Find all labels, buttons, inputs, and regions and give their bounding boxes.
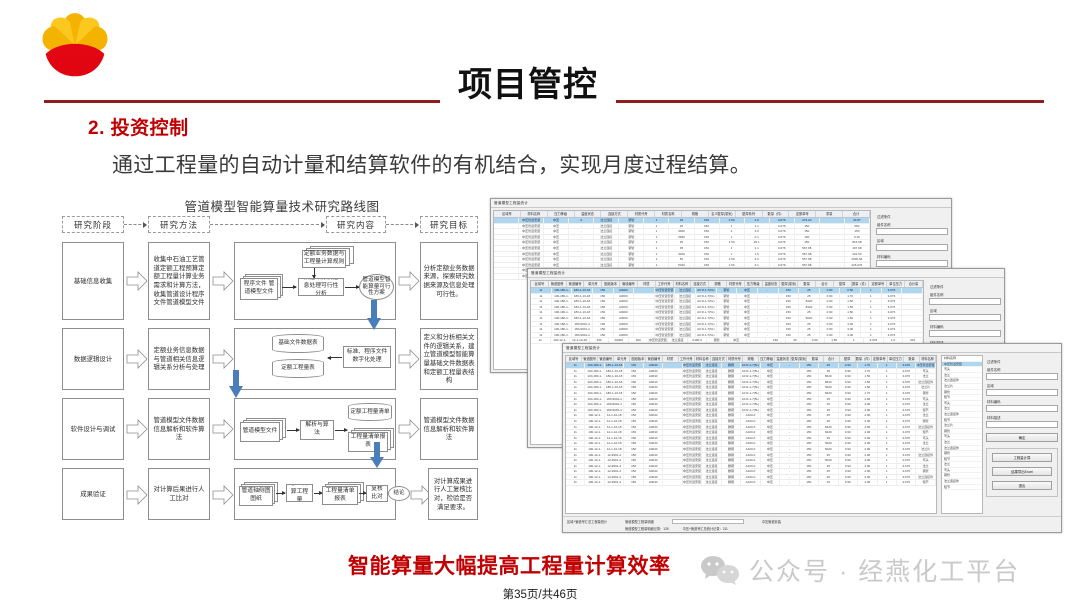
table-cell: 2900.56 [845,257,870,262]
table-cell [494,224,519,229]
grid-column-header[interactable]: 管道图号 [582,356,598,362]
table-cell: 11 [566,391,585,396]
table-cell: 中压 [761,425,780,430]
table-cell: 0.90 [839,441,858,446]
flow-arrow-3b [212,418,234,440]
table-cell: - [780,425,799,430]
grid-column-header[interactable]: 材质名称 [655,211,682,217]
grid-column-header[interactable]: 区域号 [531,281,549,287]
table-cell: 150 [800,391,819,396]
table-cell: 150 [779,288,800,293]
table-cell: 0.90 [839,413,858,418]
flow-arrow-1b [212,270,234,292]
flow-sarrow-3b [335,430,347,431]
table-cell: 180-1-10-18 [572,299,593,304]
table-cell: 150 [593,310,614,315]
table-cell: A0040 [644,380,663,385]
grid-column-header[interactable]: 温度状态 [775,356,791,362]
table-cell: 0.90 [820,322,841,327]
table-cell: A0 R-1-7(5L) [741,391,760,396]
grid-column-header[interactable]: 图纸版本 [602,281,620,287]
statusbar-input[interactable] [672,519,744,524]
grid-column-header[interactable]: 管线编号 [620,281,638,287]
flow-stage-3: 软件设计与调试 [62,398,124,460]
table-cell: 25 [819,363,838,368]
table-cell: 法兰 [916,402,935,407]
table-cell: 1 [878,430,897,435]
table-cell: - [780,380,799,385]
statusbar-tab-2[interactable]: 管道模型工程量明细 [625,519,654,524]
table-cell: A0040 [644,419,663,424]
table-cell: 11 [566,385,585,390]
grid-column-header[interactable]: 温度状态 [575,211,602,217]
table-cell: - [780,453,799,458]
window-front-field-label-2: 材料编码 [987,399,1058,404]
table-cell: 1 [878,458,897,463]
table-cell: A0040 [644,430,663,435]
table-cell: 碳钢 [722,430,741,435]
grid-column-header[interactable]: 单元号 [614,356,630,362]
grid-column-header[interactable]: 规格 [709,281,727,287]
table-cell: A0040 [644,397,663,402]
table-cell: 150 [795,224,820,229]
table-cell: 4.00 [858,447,877,452]
table-cell: 3-676 [897,447,916,452]
table-cell: 12-9901-4 [605,453,624,458]
grid-column-header[interactable]: 数量（件） [856,356,872,362]
table-cell: 碳钢 [722,408,741,413]
table-cell: 150 [624,419,643,424]
table-cell: A100-0 [741,480,760,485]
table-cell: A0040 [644,480,663,485]
window-middle-field-label-0: 组件名称 [930,292,1001,297]
table-cell: 25 [819,480,838,485]
table-cell: 碳钢 [722,441,741,446]
table-cell: 钢管 [717,333,738,338]
table-cell: 弯头 [916,397,935,402]
table-cell: 3-676 [882,299,903,304]
table-cell: 中压 [737,333,758,338]
table-cell [634,333,655,338]
table-cell: A0040 [644,391,663,396]
table-cell: 钢管 [619,252,644,257]
statusbar-tab-1[interactable]: 区域+管道号汇总工程量统计 [567,519,607,524]
table-cell: 钢管 [619,240,644,245]
table-cell: A100-0 [741,430,760,435]
table-cell: 钢管 [619,257,644,262]
table-cell: 180-1-10-18 [572,316,593,321]
table-cell: A100-0 [741,436,760,441]
grid-column-header[interactable]: 材料名称 [521,211,548,217]
table-cell: 中压 [544,252,569,257]
table-cell: 150 [800,385,819,390]
table-cell: 法兰连接 [675,305,696,310]
table-cell: 150 [800,397,819,402]
grid-column-header[interactable]: 管线编号 [646,356,662,362]
table-cell: 0.90 [820,288,841,293]
table-cell: 4.00 [858,413,877,418]
flow-stage-1: 基础信息收集 [62,242,124,320]
flow-manual-calc-4: 手工计算工程量 [286,484,313,502]
window-front-grid[interactable]: 区域号管道图号管道编号单元号图纸版本管线编号材质工作代号材料名称连接方式材质代号… [565,355,937,514]
table-cell: 中压 [544,240,569,245]
grid-column-header[interactable]: 温度状态 [763,281,781,287]
table-cell: 11 [566,441,585,446]
grid-column-header[interactable]: 单位压力 [888,356,904,362]
table-cell: 法兰 [916,441,935,446]
flow-goal-2: 定义和分析相关文件的逻辑关系，建立管道模型智能算量基础文件数据表和定额工程量表结… [420,328,478,390]
table-cell [902,310,923,315]
grid-column-header[interactable]: 压力等级 [548,211,575,217]
table-cell: 碳钢 [722,475,741,480]
grid-column-header[interactable]: 材料名称 [674,281,692,287]
window-back-titlebar[interactable]: 管道模型工程量统计 [491,199,951,208]
table-cell: 180-1-10-18 [572,294,593,299]
table-cell: A100-0 [741,441,760,446]
table-cell: 钢管 [717,299,738,304]
table-cell: A0040 [644,402,663,407]
window-front-field-input-3[interactable] [986,421,1058,428]
window-front-field-label-1: 区域 [987,383,1058,388]
table-cell: 6.0 [745,257,770,262]
table-cell: 中压 [761,408,780,413]
grid-column-header[interactable]: 壁厚(毫米) [791,356,807,362]
table-cell: 3-676 [770,235,795,240]
grid-column-header[interactable]: 压力等级 [745,281,763,287]
table-cell: 100-180-1-2018 [552,299,573,304]
table-cell: 180-9901-4 [572,322,593,327]
table-cell: A0000 [614,322,635,327]
grid-column-header[interactable]: 区域号 [494,211,521,217]
table-cell: 150 [593,316,614,321]
table-cell: 法兰连接 [675,322,696,327]
table-cell: A0 R-1-7(5L) [741,374,760,379]
table-cell: 中压管道安装 [683,374,702,379]
table-cell [494,252,519,257]
table-cell: 25 [819,369,838,374]
table-cell: 150 [624,453,643,458]
table-cell [663,385,682,390]
table-cell: 12-9901-4 [605,469,624,474]
table-cell [663,369,682,374]
table-cell: 11 [566,363,585,368]
grid-column-header[interactable]: 定额单号 [872,356,888,362]
window-front[interactable]: 管道模型工程量统计 区域号管道图号管道编号单元号图纸版本管线编号材质工作代号材料… [562,343,1062,533]
table-cell: A0040 [644,413,663,418]
table-cell: 11 [531,322,552,327]
flow-db-2b-label: 定额工程量表 [272,359,324,378]
grid-column-header[interactable]: 重量 [816,211,843,217]
table-cell: A0040 [644,453,663,458]
table-cell: 1 [878,380,897,385]
table-cell: 1 [878,441,897,446]
window-middle-field-input-2[interactable] [929,330,1001,337]
table-cell: 100-12-1-2018 [585,436,604,441]
table-cell: 25 [819,464,838,469]
table-cell [820,252,845,257]
table-cell: A0 R-1-7(5L) [696,299,717,304]
table-cell: 中压管道安装 [655,322,676,327]
table-cell: 中压管道安装 [683,453,702,458]
table-cell: 25 [819,419,838,424]
table-cell: 150 [800,436,819,441]
flow-varrow-1 [314,268,315,278]
grid-column-header[interactable]: 定额单号 [869,281,887,287]
table-row[interactable]: 11100-12-1-990412-9901-4150A0040中压管道安装法兰… [566,480,936,486]
table-cell: A0040 [644,469,663,474]
table-cell: 150 [779,294,800,299]
grid-column-header[interactable]: 连接方式 [601,211,628,217]
grid-column-header[interactable]: 规格 [682,211,709,217]
window-back-field-input-1[interactable] [876,244,948,251]
table-cell [634,288,655,293]
confirm-button[interactable]: 确定 [986,433,1058,442]
table-cell: A100-0 [741,464,760,469]
table-cell: 法兰连接 [675,316,696,321]
table-cell: 3-676 [770,246,795,251]
table-cell: 短节 [916,480,935,485]
grid-column-header[interactable]: 单元号 [584,281,602,287]
table-cell: 150 [695,257,720,262]
wechat-icon [700,555,740,585]
grid-column-header[interactable]: 材质代号 [727,356,743,362]
flow-method-3: 管道模型文件数据信息解析和软件算法 [148,398,210,460]
software-screenshots: 管道模型工程量统计 区域号材料名称压力等级温度状态连接方式材质代号材质名称规格名… [490,198,1080,538]
grid-column-header[interactable]: 定额单号 [789,211,816,217]
table-cell: 8420 [819,430,838,435]
table-cell [663,402,682,407]
grid-column-header[interactable]: 合计 [843,211,870,217]
table-cell: 中压管道安装 [519,263,544,268]
grid-column-header[interactable]: 数量 [798,281,816,287]
table-cell: 567.98 [795,246,820,251]
grid-column-header[interactable]: 合计 [824,356,840,362]
table-cell: 4.00 [858,397,877,402]
table-cell: 中压管道安装 [683,469,702,474]
table-cell: 11 [531,338,551,343]
window-front-material-list[interactable]: 材料名称中压管道安装弯头法兰法兰连接件法兰片钢管短节弯头法兰法兰连接件短节法兰片… [941,355,983,514]
table-cell: 中压 [544,246,569,251]
grid-column-header[interactable]: 管道图号 [549,281,567,287]
grid-column-header[interactable]: 数量（件） [763,211,790,217]
table-cell: A0 R-1-7(5L) [696,310,717,315]
table-cell: 5020 [819,385,838,390]
table-cell: 钢管 [717,322,738,327]
table-cell [820,240,845,245]
table-cell: 3.1 [745,263,770,268]
flow-conclusion-4: 结论 [388,486,410,501]
table-cell: 1 [878,385,897,390]
watermark: 公众号 · 经燕化工平台 [700,552,1020,588]
table-cell: 中压管道安装 [519,246,544,251]
table-cell: 3-676 [897,469,916,474]
table-cell: 中压 [737,316,758,321]
table-cell: 中压管道安装 [655,288,676,293]
window-front-field-label-3: 材料描述 [987,415,1058,420]
table-cell: A0 R-1-7(5L) [741,397,760,402]
table-cell: 11 [566,408,585,413]
table-cell: 3-676 [770,224,795,229]
table-cell: 150 [800,402,819,407]
grid-column-header[interactable]: 管道编号 [567,281,585,287]
table-cell: 150 [800,469,819,474]
table-cell: 3-676 [770,240,795,245]
flowchart-title: 管道模型智能算量技术研究路线图 [157,196,407,215]
table-cell: 8420 [799,299,820,304]
table-cell: 中压管道安装 [683,447,702,452]
table-cell: 中压管道安装 [655,316,676,321]
window-back-grid-header: 区域号材料名称压力等级温度状态连接方式材质代号材质名称规格名义壁厚(毫米)壁厚系… [494,211,870,218]
grid-column-header[interactable]: 合计 [816,281,834,287]
table-cell: 100-180-1-2018 [585,380,604,385]
table-cell: 碳钢 [722,419,741,424]
table-cell: A0 R-1-7(5L) [741,380,760,385]
table-cell [494,246,519,251]
window-front-titlebar[interactable]: 管道模型工程量统计 [563,344,1061,353]
page-title-text: 项目管控 [458,68,598,102]
grid-column-header[interactable]: 材质 [638,281,656,287]
calc-quantity-button[interactable]: 工程量计算 [992,453,1052,462]
grid-column-header[interactable]: 管道编号 [598,356,614,362]
table-cell: A100-0 [741,453,760,458]
window-middle-field-label-1: 区域 [930,308,1001,313]
table-cell: 11 [566,453,585,458]
table-cell [902,316,923,321]
window-middle-field-input-0[interactable] [929,298,1001,305]
flow-compare-4: 复核比对 [366,485,388,502]
table-cell: 150 [593,288,614,293]
table-cell: 中压管道安装 [683,458,702,463]
table-cell: 0.90 [820,294,841,299]
grid-column-header[interactable]: 压力等级 [759,356,775,362]
table-cell: 3-676 [770,229,795,234]
table-cell: 钢管 [717,294,738,299]
table-cell: 3-676 [897,413,916,418]
table-cell: 180-9901-4 [605,408,624,413]
table-cell: - [758,299,779,304]
list-item[interactable]: 短节 [942,485,982,491]
grid-column-header[interactable]: 壁厚(毫米) [780,281,798,287]
flow-blue-arrow-2 [229,370,243,398]
table-cell [663,425,682,430]
table-cell: 150 [624,374,643,379]
window-front-field-input-2[interactable] [986,405,1058,412]
grid-column-header[interactable]: 规格 [743,356,759,362]
table-cell: - [780,419,799,424]
grid-column-header[interactable]: 数量（件） [852,281,870,287]
grid-column-header[interactable]: 材料名称 [695,356,711,362]
window-middle-titlebar[interactable]: 管道模型工程量统计 [528,269,1004,278]
table-cell: 20.1 [745,240,770,245]
export-excel-button[interactable]: 结果导出Excel [992,467,1052,476]
grid-column-header[interactable]: 材质代号 [628,211,655,217]
table-cell: 0.90 [839,397,858,402]
table-cell: 中压管道安装 [683,397,702,402]
window-front-grid-header: 区域号管道图号管道编号单元号图纸版本管线编号材质工作代号材料名称连接方式材质代号… [566,356,936,363]
table-cell: 150 [624,469,643,474]
flow-docs-4-label: 管道轴侧图图纸 [239,486,273,506]
table-cell: 4.00 [840,322,861,327]
table-cell: - [758,288,779,293]
page-indicator: 第35页/共46页 [0,586,1080,602]
table-cell: 中压 [761,475,780,480]
page-title: 项目管控 [440,62,616,108]
table-cell: 1 [878,363,897,368]
table-cell: 短节 [916,408,935,413]
table-cell [663,374,682,379]
grid-column-header[interactable]: 单位压力 [887,281,905,287]
grid-column-header[interactable]: 图纸版本 [630,356,646,362]
table-cell: 碳钢 [722,385,741,390]
grid-column-header[interactable]: 工作代号 [679,356,695,362]
table-cell: 1 [861,322,882,327]
petrochina-logo-icon [36,10,114,84]
table-cell: 弯头 [916,369,935,374]
table-cell: 法兰连接 [594,224,619,229]
table-cell [820,263,845,268]
table-cell: 法兰连接 [594,235,619,240]
flow-method-2: 定额业务信息数据与管道相关信息逻辑关系分析与处理 [148,328,210,390]
flow-process-3: 解析与算法 [300,420,334,440]
window-back-field-input-0[interactable] [876,228,948,235]
table-cell: 12-1-10-18 [605,447,624,452]
table-cell: 35 [669,240,694,245]
table-cell: 11 [566,425,585,430]
grid-column-header[interactable]: 壁厚 [840,356,856,362]
window-front-field-input-0[interactable] [986,373,1058,380]
grid-column-header[interactable]: 壁厚 [834,281,852,287]
grid-column-header[interactable]: 区域号 [566,356,582,362]
grid-column-header[interactable]: 材质代号 [727,281,745,287]
table-cell: 25 [669,218,694,223]
table-cell [634,322,655,327]
table-cell: 1.50 [840,299,861,304]
table-cell [663,419,682,424]
table-cell: 3-676 [882,305,903,310]
flow-sarrow-1b [345,287,359,288]
table-cell: 25 [819,453,838,458]
table-cell [663,469,682,474]
grid-column-header[interactable]: 连接方式 [711,356,727,362]
flow-arrow-2b [212,348,234,370]
table-cell: 0.90 [839,402,858,407]
table-cell: 150 [593,322,614,327]
window-front-field-input-1[interactable] [986,389,1058,396]
grid-column-header[interactable]: 材料名称 [920,356,936,362]
grid-column-header[interactable]: 合计量 [905,281,923,287]
table-cell: 0.90 [839,380,858,385]
window-front-action-group: 工程量计算 结果导出Excel 退出 [986,448,1058,497]
table-cell: 中压 [737,305,758,310]
window-middle-field-input-1[interactable] [929,314,1001,321]
table-cell: 中压管道安装 [655,327,676,332]
grid-column-header[interactable]: 壁厚系列 [736,211,763,217]
window-back-field-input-2[interactable] [876,260,948,267]
grid-column-header[interactable]: 数量 [807,356,823,362]
window-front-filter-panel[interactable]: 过滤条件 组件名称 区域 材料编码 材料描述 确定 工程量计算 结果导出Exce… [983,353,1061,516]
exit-button[interactable]: 退出 [992,481,1052,490]
grid-column-header[interactable]: 数量 [904,356,920,362]
table-cell: 1 [861,316,882,321]
grid-column-header[interactable]: 材质 [663,356,679,362]
window-middle-grid-header: 区域号管道图号管道编号单元号图纸版本管线编号材质工作代号材料名称连接方式规格材质… [531,281,923,288]
table-cell: 3-676 [882,322,903,327]
table-cell: 1.50 [720,263,745,268]
table-cell: 碳钢 [722,469,741,474]
grid-column-header[interactable]: 工作代号 [656,281,674,287]
grid-column-header[interactable]: 连接方式 [691,281,709,287]
grid-column-header[interactable]: 名义壁厚(毫米) [709,211,736,217]
